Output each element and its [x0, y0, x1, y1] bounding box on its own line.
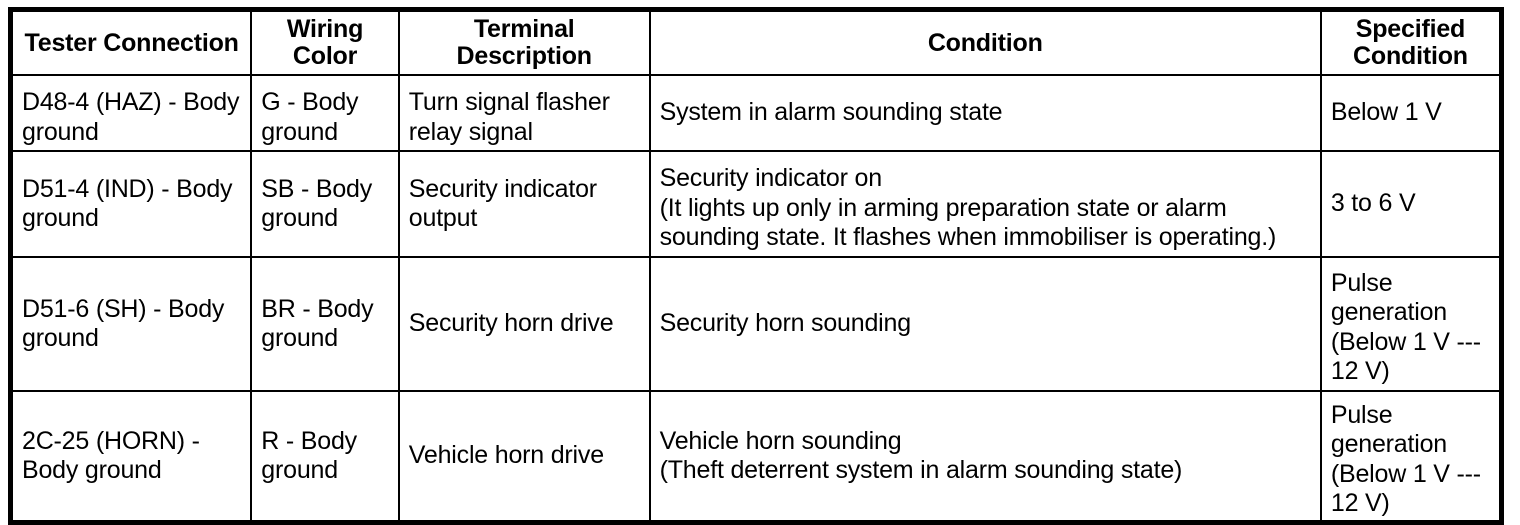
- cell-wiring-color-text: BR - Body ground: [252, 295, 397, 354]
- table-row: 2C-25 (HORN) - Body ground R - Body grou…: [11, 391, 1502, 523]
- cell-terminal-description: Turn signal flasher relay signal: [399, 75, 650, 151]
- column-header-terminal-description: Terminal Description: [399, 10, 650, 76]
- column-header-specified-condition-label: Specified Condition: [1322, 16, 1499, 70]
- cell-terminal-description-text: Vehicle horn drive: [400, 441, 649, 471]
- column-header-condition: Condition: [650, 10, 1321, 76]
- cell-specified-condition: Pulse generation (Below 1 V --- 12 V): [1321, 257, 1502, 391]
- column-header-condition-label: Condition: [651, 30, 1320, 57]
- cell-condition-text: Security horn sounding: [651, 309, 1320, 339]
- cell-condition: Security indicator on (It lights up only…: [650, 151, 1321, 257]
- cell-wiring-color-text: R - Body ground: [252, 427, 397, 486]
- cell-wiring-color: SB - Body ground: [251, 151, 398, 257]
- cell-condition: Security horn sounding: [650, 257, 1321, 391]
- table-row: D48-4 (HAZ) - Body ground G - Body groun…: [11, 75, 1502, 151]
- cell-condition-text: Vehicle horn sounding (Theft deterrent s…: [651, 427, 1320, 486]
- cell-wiring-color: BR - Body ground: [251, 257, 398, 391]
- page-root: Tester Connection Wiring Color Terminal …: [0, 0, 1520, 524]
- cell-condition: Vehicle horn sounding (Theft deterrent s…: [650, 391, 1321, 523]
- cell-wiring-color: R - Body ground: [251, 391, 398, 523]
- column-header-tester-connection: Tester Connection: [11, 10, 252, 76]
- cell-wiring-color: G - Body ground: [251, 75, 398, 151]
- column-header-specified-condition: Specified Condition: [1321, 10, 1502, 76]
- cell-terminal-description-text: Security horn drive: [400, 309, 649, 339]
- column-header-terminal-description-label: Terminal Description: [400, 16, 649, 70]
- cell-terminal-description-text: Turn signal flasher relay signal: [400, 79, 649, 147]
- cell-terminal-description: Security indicator output: [399, 151, 650, 257]
- table-row: D51-4 (IND) - Body ground SB - Body grou…: [11, 151, 1502, 257]
- column-header-wiring-color: Wiring Color: [251, 10, 398, 76]
- cell-wiring-color-text: SB - Body ground: [252, 175, 397, 234]
- table-row: D51-6 (SH) - Body ground BR - Body groun…: [11, 257, 1502, 391]
- cell-terminal-description: Security horn drive: [399, 257, 650, 391]
- cell-terminal-description: Vehicle horn drive: [399, 391, 650, 523]
- table-header: Tester Connection Wiring Color Terminal …: [11, 10, 1502, 76]
- cell-tester-connection-text: 2C-25 (HORN) - Body ground: [13, 427, 250, 486]
- table-header-row: Tester Connection Wiring Color Terminal …: [11, 10, 1502, 76]
- cell-specified-condition: Below 1 V: [1321, 75, 1502, 151]
- cell-tester-connection-text: D51-4 (IND) - Body ground: [13, 175, 250, 234]
- cell-specified-condition: 3 to 6 V: [1321, 151, 1502, 257]
- cell-tester-connection: D51-6 (SH) - Body ground: [11, 257, 252, 391]
- column-header-tester-connection-label: Tester Connection: [13, 30, 250, 57]
- cell-specified-condition-text: Pulse generation (Below 1 V --- 12 V): [1322, 262, 1499, 387]
- table-body: D48-4 (HAZ) - Body ground G - Body groun…: [11, 75, 1502, 523]
- cell-specified-condition-text: Below 1 V: [1322, 98, 1499, 128]
- inspection-specification-table: Tester Connection Wiring Color Terminal …: [8, 7, 1504, 525]
- column-header-wiring-color-label: Wiring Color: [252, 16, 397, 70]
- cell-condition-text: System in alarm sounding state: [651, 98, 1320, 128]
- cell-terminal-description-text: Security indicator output: [400, 175, 649, 234]
- cell-tester-connection: D51-4 (IND) - Body ground: [11, 151, 252, 257]
- cell-condition-text: Security indicator on (It lights up only…: [651, 155, 1320, 253]
- cell-wiring-color-text: G - Body ground: [252, 79, 397, 147]
- cell-specified-condition-text: 3 to 6 V: [1322, 189, 1499, 219]
- cell-tester-connection: 2C-25 (HORN) - Body ground: [11, 391, 252, 523]
- cell-specified-condition: Pulse generation (Below 1 V --- 12 V): [1321, 391, 1502, 523]
- cell-tester-connection-text: D48-4 (HAZ) - Body ground: [13, 79, 250, 147]
- cell-tester-connection-text: D51-6 (SH) - Body ground: [13, 295, 250, 354]
- cell-tester-connection: D48-4 (HAZ) - Body ground: [11, 75, 252, 151]
- cell-specified-condition-text: Pulse generation (Below 1 V --- 12 V): [1322, 394, 1499, 519]
- cell-condition: System in alarm sounding state: [650, 75, 1321, 151]
